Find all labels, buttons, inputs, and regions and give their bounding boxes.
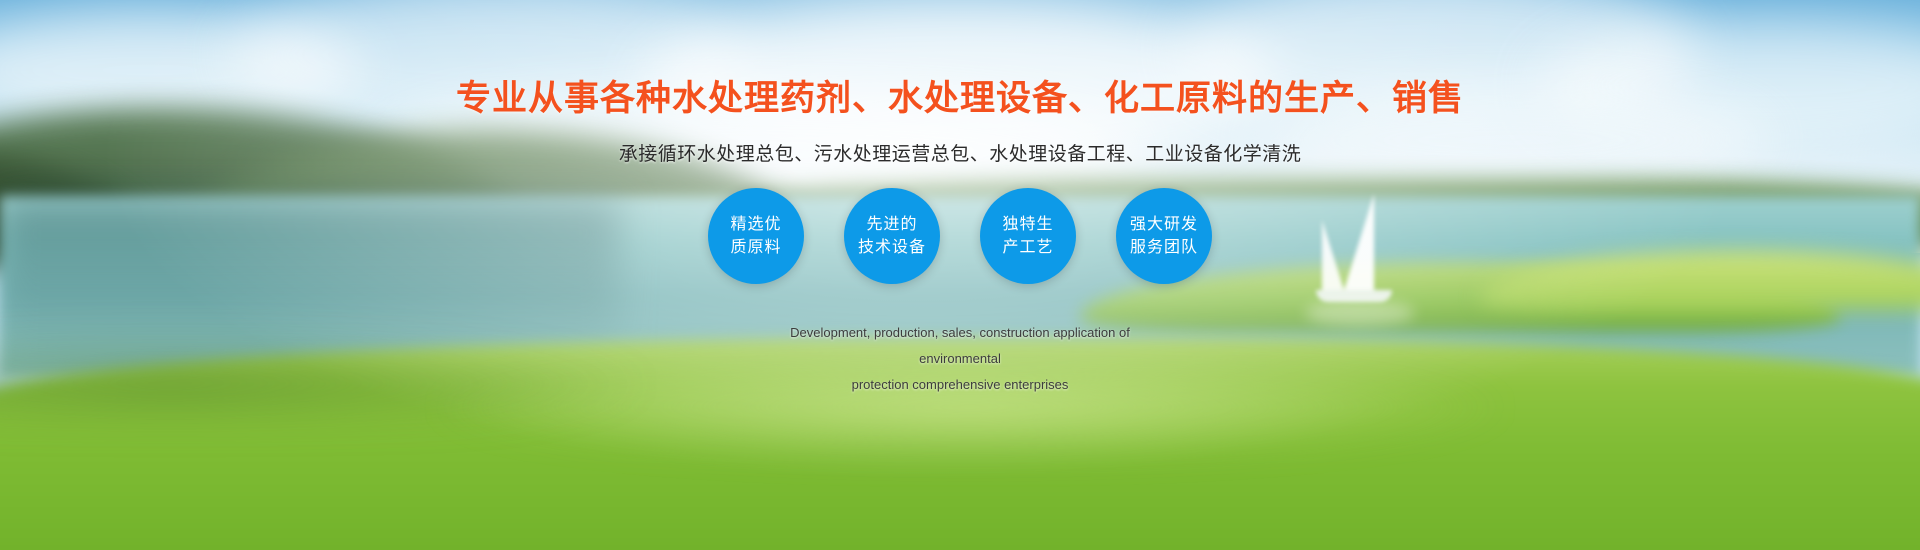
feature-circle-1-line2: 质原料 [730, 236, 781, 259]
feature-circle-2[interactable]: 先进的 技术设备 [844, 188, 940, 284]
feature-circle-2-line1: 先进的 [866, 213, 917, 236]
feature-circle-3-line1: 独特生 [1002, 213, 1053, 236]
feature-circle-3[interactable]: 独特生 产工艺 [980, 188, 1076, 284]
feature-circle-3-line2: 产工艺 [1002, 236, 1053, 259]
banner-tagline-line2: protection comprehensive enterprises [750, 372, 1170, 398]
feature-circle-2-line2: 技术设备 [858, 236, 926, 259]
banner-tagline-line1: Development, production, sales, construc… [750, 320, 1170, 372]
feature-circle-4[interactable]: 强大研发 服务团队 [1116, 188, 1212, 284]
banner-content: 专业从事各种水处理药剂、水处理设备、化工原料的生产、销售 承接循环水处理总包、污… [0, 0, 1920, 550]
banner-headline: 专业从事各种水处理药剂、水处理设备、化工原料的生产、销售 [456, 78, 1464, 120]
feature-circle-4-line1: 强大研发 [1130, 213, 1198, 236]
feature-circle-4-line2: 服务团队 [1130, 236, 1198, 259]
feature-circle-1-line1: 精选优 [730, 213, 781, 236]
hero-banner: 专业从事各种水处理药剂、水处理设备、化工原料的生产、销售 承接循环水处理总包、污… [0, 0, 1920, 550]
feature-circle-group: 精选优 质原料 先进的 技术设备 独特生 产工艺 强大研发 服务团队 [708, 188, 1212, 284]
banner-tagline: Development, production, sales, construc… [750, 320, 1170, 398]
feature-circle-1[interactable]: 精选优 质原料 [708, 188, 804, 284]
banner-subheadline: 承接循环水处理总包、污水处理运营总包、水处理设备工程、工业设备化学清洗 [619, 139, 1302, 166]
